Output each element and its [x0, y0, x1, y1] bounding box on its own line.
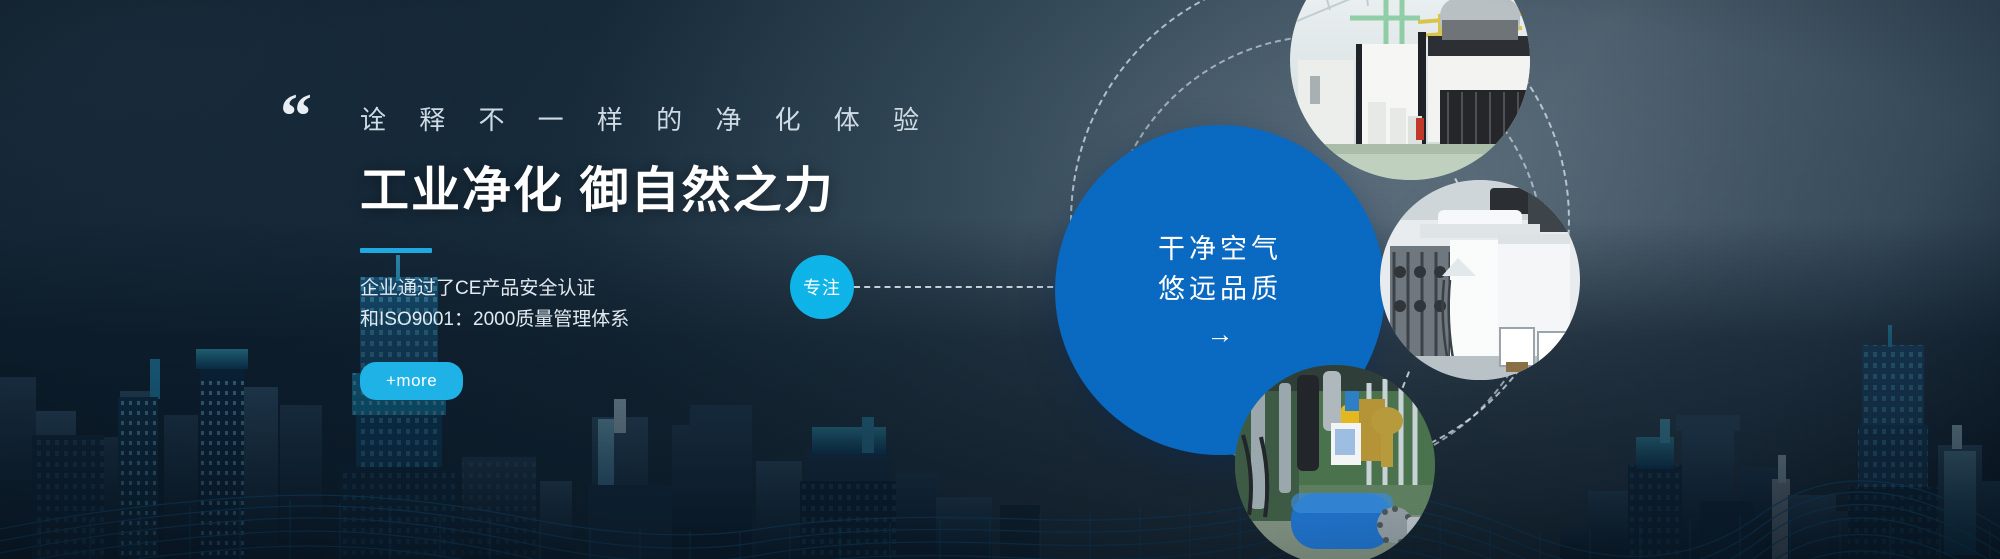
quote-mark-icon: “ — [280, 84, 310, 148]
arrow-right-icon: → — [1207, 319, 1234, 350]
photo-circle-pipe-valves[interactable] — [1235, 365, 1435, 559]
photo-machinery-line-image — [1380, 180, 1580, 380]
photo-pipe-valves-image — [1235, 365, 1435, 559]
accent-rule-divider — [360, 248, 432, 253]
photo-circle-machinery-line[interactable] — [1380, 180, 1580, 380]
main-circle-line-1: 干净空气 — [1158, 230, 1282, 269]
focus-badge[interactable]: 专注 — [790, 255, 854, 319]
more-button[interactable]: +more — [360, 362, 463, 400]
main-circle-line-2: 悠远品质 — [1158, 270, 1282, 309]
focus-badge-label: 专注 — [803, 274, 841, 300]
hero-banner: “ 诠 释 不 一 样 的 净 化 体 验 工业净化 御自然之力 企业通过了CE… — [0, 0, 2000, 559]
circle-cluster: 专注 干净空气 悠远品质 → — [770, 0, 2000, 559]
